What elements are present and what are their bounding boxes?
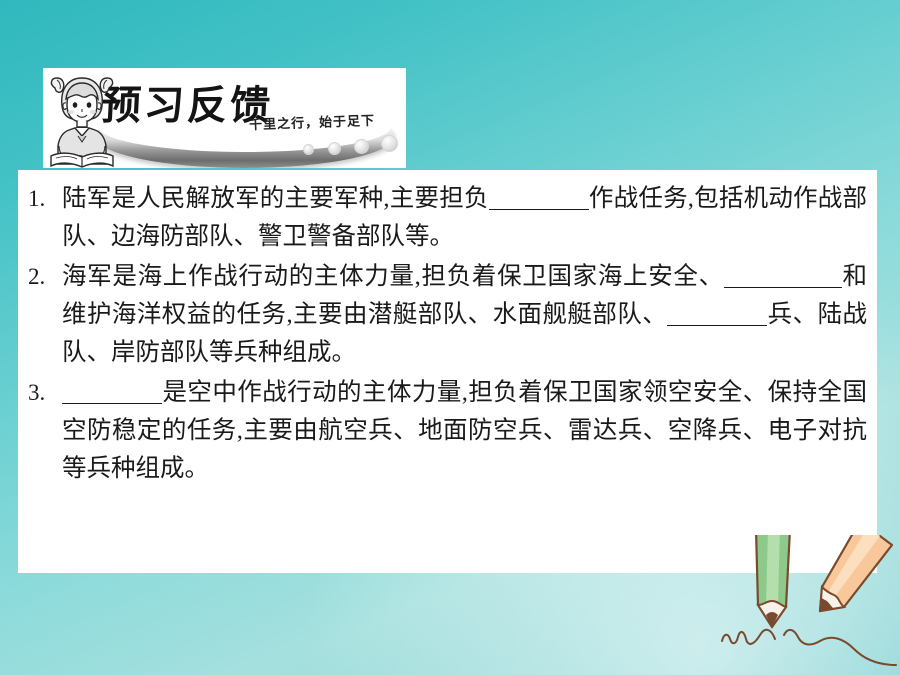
question-text-segment: 是空中作战行动的主体力量,担负着保卫国家领空安全、保持全国空防稳定的任务,主要由…	[62, 379, 867, 482]
answer-blank[interactable]	[62, 381, 162, 404]
girl-reading-book-icon	[45, 72, 121, 168]
question-item: 1.陆军是人民解放军的主要军种,主要担负作战任务,包括机动作战部队、边海防部队、…	[28, 180, 867, 256]
banner-dot-3	[354, 139, 369, 154]
answer-blank[interactable]	[489, 187, 589, 210]
slide-canvas: 预习反馈 千里之行，始于足下	[0, 0, 900, 675]
content-panel: 1.陆军是人民解放军的主要军种,主要担负作战任务,包括机动作战部队、边海防部队、…	[18, 170, 877, 573]
banner-dot-1	[303, 144, 314, 155]
answer-blank[interactable]	[724, 265, 842, 288]
question-text: 海军是海上作战行动的主体力量,担负着保卫国家海上安全、和维护海洋权益的任务,主要…	[62, 258, 867, 372]
answer-blank[interactable]	[667, 303, 767, 326]
question-number: 3.	[28, 374, 62, 412]
question-text-segment: 陆军是人民解放军的主要军种,主要担负	[62, 185, 489, 212]
question-text-segment: 海军是海上作战行动的主体力量,担负着保卫国家海上安全、	[62, 263, 724, 290]
question-text: 陆军是人民解放军的主要军种,主要担负作战任务,包括机动作战部队、边海防部队、警卫…	[62, 180, 867, 256]
question-item: 3.是空中作战行动的主体力量,担负着保卫国家领空安全、保持全国空防稳定的任务,主…	[28, 374, 867, 488]
header-banner: 预习反馈 千里之行，始于足下	[43, 68, 406, 168]
pencil-decoration	[720, 535, 900, 675]
orange-pencil-icon	[820, 535, 892, 611]
banner-dot-2	[328, 142, 341, 155]
question-text: 是空中作战行动的主体力量,担负着保卫国家领空安全、保持全国空防稳定的任务,主要由…	[62, 374, 867, 488]
question-list: 1.陆军是人民解放军的主要军种,主要担负作战任务,包括机动作战部队、边海防部队、…	[18, 170, 877, 488]
question-number: 1.	[28, 180, 62, 218]
green-pencil-icon	[756, 535, 790, 627]
banner-dot-4	[381, 135, 398, 152]
question-number: 2.	[28, 258, 62, 296]
question-item: 2.海军是海上作战行动的主体力量,担负着保卫国家海上安全、和维护海洋权益的任务,…	[28, 258, 867, 372]
